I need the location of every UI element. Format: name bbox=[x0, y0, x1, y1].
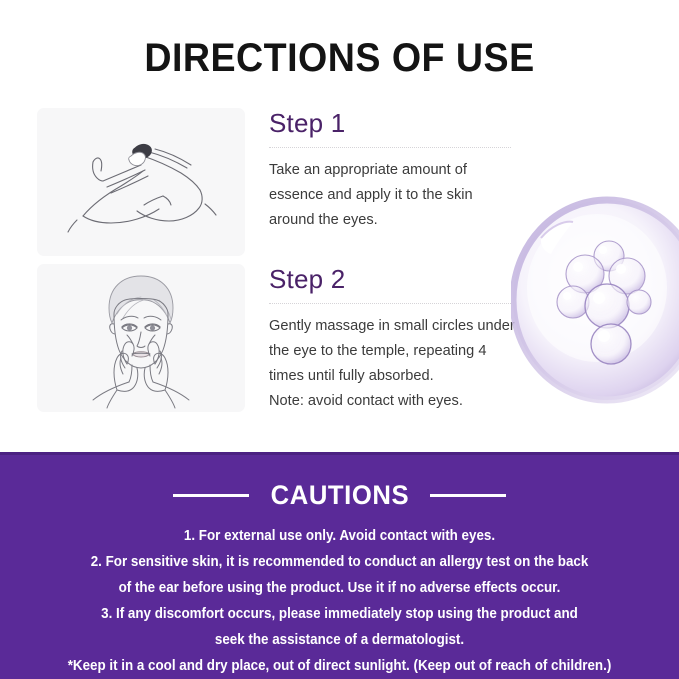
product-instructions-page: DIRECTIONS OF USE bbox=[0, 0, 679, 679]
hands-applying-essence-icon bbox=[37, 108, 245, 256]
step-2-image-card bbox=[37, 264, 245, 412]
step-1-body: Take an appropriate amount of essence an… bbox=[269, 158, 529, 233]
cautions-title: CAUTIONS bbox=[270, 480, 409, 511]
step-2-text-block: Step 2 Gently massage in small circles u… bbox=[269, 264, 529, 414]
step-2-body: Gently massage in small circles under th… bbox=[269, 314, 529, 414]
step-1-heading: Step 1 bbox=[269, 108, 529, 138]
caution-note: *Keep it in a cool and dry place, out of… bbox=[24, 653, 655, 679]
caution-line: 2. For sensitive skin, it is recommended… bbox=[24, 549, 655, 575]
caution-line: 3. If any discomfort occurs, please imme… bbox=[24, 601, 655, 627]
step-1-text-block: Step 1 Take an appropriate amount of ess… bbox=[269, 108, 529, 233]
cautions-dash-left-icon bbox=[173, 494, 249, 497]
step-1-body-line: essence and apply it to the skin bbox=[269, 183, 529, 208]
step-2-body-note: Note: avoid contact with eyes. bbox=[269, 389, 529, 414]
step-2-body-line: Gently massage in small circles under bbox=[269, 314, 529, 339]
step-1-divider bbox=[269, 147, 511, 148]
step-1-body-line: around the eyes. bbox=[269, 208, 529, 233]
cautions-body: 1. For external use only. Avoid contact … bbox=[0, 523, 679, 679]
cautions-header: CAUTIONS bbox=[0, 480, 679, 511]
caution-line: of the ear before using the product. Use… bbox=[24, 575, 655, 601]
step-1-image-card bbox=[37, 108, 245, 256]
cautions-section: CAUTIONS 1. For external use only. Avoid… bbox=[0, 452, 679, 679]
step-2-body-line: times until fully absorbed. bbox=[269, 364, 529, 389]
serum-droplet-with-bubbles-icon bbox=[511, 196, 679, 411]
step-2-heading: Step 2 bbox=[269, 264, 529, 294]
caution-line: seek the assistance of a dermatologist. bbox=[24, 627, 655, 653]
serum-droplet-image bbox=[511, 196, 679, 411]
caution-line: 1. For external use only. Avoid contact … bbox=[24, 523, 655, 549]
step-2-divider bbox=[269, 303, 511, 304]
face-massage-under-eyes-icon bbox=[37, 264, 245, 412]
cautions-dash-right-icon bbox=[430, 494, 506, 497]
step-2-body-line: the eye to the temple, repeating 4 bbox=[269, 339, 529, 364]
page-title: DIRECTIONS OF USE bbox=[20, 36, 658, 81]
step-1-body-line: Take an appropriate amount of bbox=[269, 158, 529, 183]
